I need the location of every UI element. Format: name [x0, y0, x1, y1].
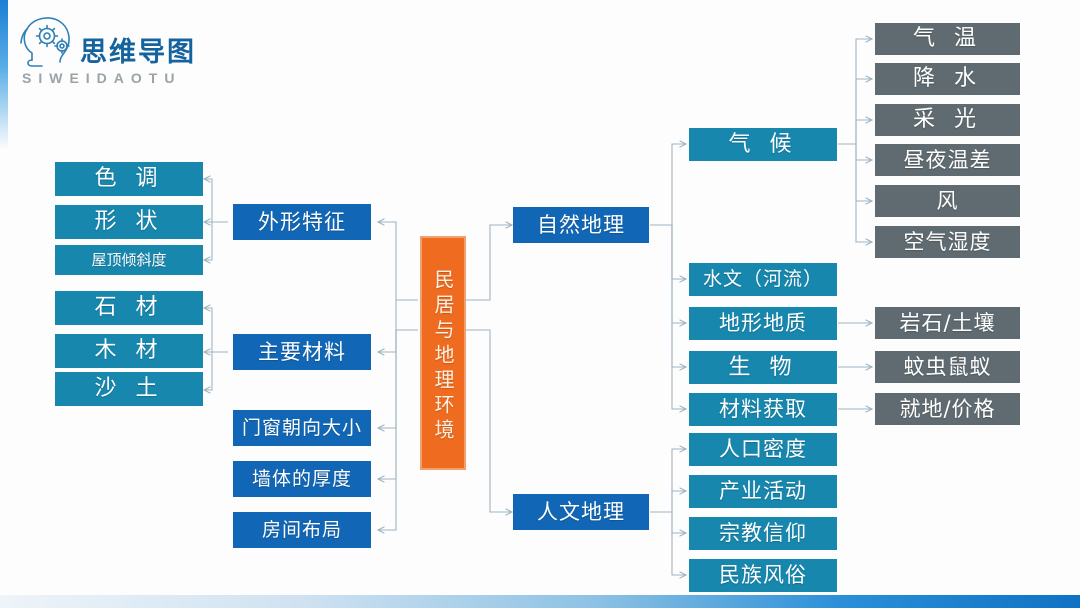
node-biology[interactable]: 生 物 — [689, 351, 837, 384]
left-accent-bar — [0, 0, 8, 150]
branch-node-main-materials[interactable]: 主要材料 — [233, 334, 371, 370]
leaf-node-stone[interactable]: 石 材 — [55, 291, 203, 325]
bottom-accent-bar — [0, 595, 1080, 608]
leaf-node-local-sourcing-price[interactable]: 就地/价格 — [875, 393, 1020, 425]
node-climate[interactable]: 气 候 — [689, 128, 837, 161]
node-ethnic-customs[interactable]: 民族风俗 — [689, 559, 837, 592]
leaf-node-diurnal-temperature-range[interactable]: 昼夜温差 — [875, 144, 1020, 176]
branch-node-window-orientation-size[interactable]: 门窗朝向大小 — [233, 410, 371, 446]
branch-node-wall-thickness[interactable]: 墙体的厚度 — [233, 461, 371, 497]
branch-node-human-geography[interactable]: 人文地理 — [513, 494, 649, 530]
leaf-node-precipitation[interactable]: 降 水 — [875, 63, 1020, 95]
mindmap-canvas: 思维导图 SIWEIDAOTU — [0, 0, 1080, 608]
branch-node-appearance-features[interactable]: 外形特征 — [233, 204, 371, 240]
branch-node-physical-geography[interactable]: 自然地理 — [513, 207, 649, 243]
node-material-acquisition[interactable]: 材料获取 — [689, 393, 837, 426]
leaf-node-air-humidity[interactable]: 空气湿度 — [875, 226, 1020, 258]
node-hydrology-rivers[interactable]: 水文（河流） — [689, 263, 837, 296]
leaf-node-rock-soil[interactable]: 岩石/土壤 — [875, 307, 1020, 339]
logo-subtitle: SIWEIDAOTU — [22, 70, 181, 86]
node-population-density[interactable]: 人口密度 — [689, 433, 837, 466]
node-industrial-activity[interactable]: 产业活动 — [689, 475, 837, 508]
leaf-node-temperature[interactable]: 气 温 — [875, 23, 1020, 55]
leaf-node-wood[interactable]: 木 材 — [55, 334, 203, 368]
node-religious-belief[interactable]: 宗教信仰 — [689, 517, 837, 550]
leaf-node-shape[interactable]: 形 状 — [55, 205, 203, 239]
leaf-node-roof-slope[interactable]: 屋顶倾斜度 — [55, 245, 203, 275]
leaf-node-sandy-soil[interactable]: 沙 土 — [55, 372, 203, 406]
leaf-node-wind[interactable]: 风 — [875, 185, 1020, 217]
leaf-node-daylighting[interactable]: 采 光 — [875, 104, 1020, 136]
branch-node-room-layout[interactable]: 房间布局 — [233, 512, 371, 548]
center-node-dwellings-and-geography[interactable]: 民居与地理环境 — [420, 236, 466, 470]
node-landform-geology[interactable]: 地形地质 — [689, 307, 837, 340]
leaf-node-insects-rodents[interactable]: 蚊虫鼠蚁 — [875, 351, 1020, 383]
leaf-node-color-tone[interactable]: 色 调 — [55, 162, 203, 196]
logo: 思维导图 SIWEIDAOTU — [18, 8, 248, 108]
logo-title: 思维导图 — [80, 30, 196, 69]
head-gears-icon — [18, 10, 84, 72]
